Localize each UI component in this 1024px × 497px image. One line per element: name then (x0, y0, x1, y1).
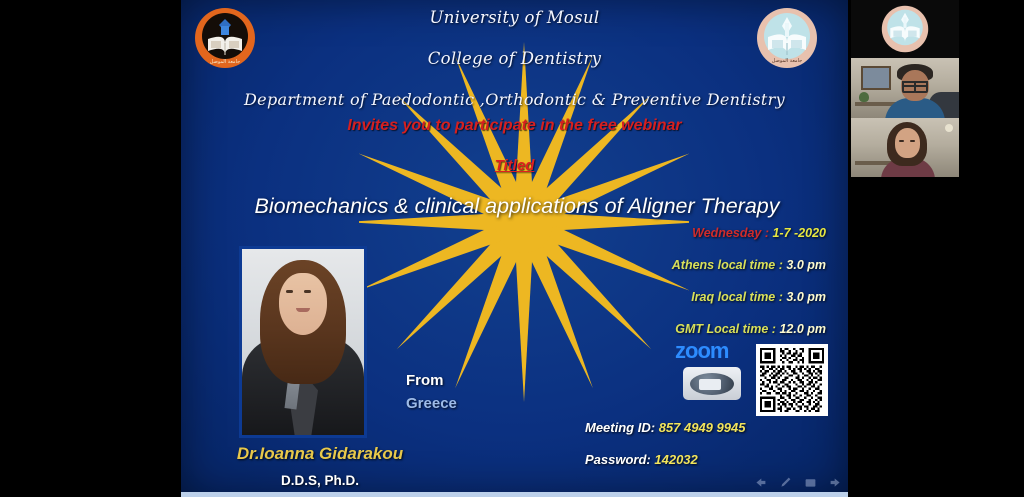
speaker-country: Greece (406, 395, 457, 412)
meeting-id-value: 857 4949 9945 (659, 420, 746, 435)
presentation-toolbar[interactable] (754, 476, 842, 489)
password-row: Password: 142032 (585, 452, 745, 467)
meeting-id-row: Meeting ID: 857 4949 9945 (585, 420, 745, 435)
qr-code-icon (756, 344, 828, 416)
header-invitation-line: Invites you to participate in the free w… (181, 117, 848, 135)
schedule-athens-label: Athens local time : (672, 258, 783, 272)
schedule-iraq-label: Iraq local time : (691, 290, 783, 304)
header-university: University of Mosul (181, 8, 848, 27)
zoom-camera-icon (683, 367, 741, 400)
participant-thumb-logo[interactable] (851, 0, 959, 58)
schedule-row-athens: Athens local time : 3.0 pm (672, 258, 826, 272)
schedule-row-iraq: Iraq local time : 3.0 pm (672, 290, 826, 304)
participant-thumb-woman[interactable] (851, 118, 959, 177)
glasses-icon (902, 81, 928, 87)
woman-eye-left (899, 140, 904, 142)
zoom-wordmark: zoom (675, 340, 741, 362)
schedule-iraq-value: 3.0 pm (786, 290, 826, 304)
schedule-row-date: Wednesday : 1-7 -2020 (672, 226, 826, 240)
schedule-gmt-label: GMT Local time : (675, 322, 776, 336)
meeting-id-label: Meeting ID: (585, 420, 655, 435)
portrait-mouth (296, 308, 310, 312)
meeting-info-block: Meeting ID: 857 4949 9945 Password: 1420… (585, 420, 745, 484)
wall-picture-frame (861, 66, 891, 90)
pen-icon[interactable] (779, 476, 792, 489)
slide-icon[interactable] (804, 476, 817, 489)
schedule-row-gmt: GMT Local time : 12.0 pm (672, 322, 826, 336)
slide-bottom-edge (181, 492, 848, 497)
schedule-date-label: Wednesday : (692, 226, 769, 240)
header-department: Department of Paedodontic ,Orthodontic &… (181, 90, 848, 109)
participant-thumbnail-strip[interactable] (851, 0, 959, 177)
speaker-portrait (239, 246, 367, 438)
portrait-eye-left (286, 290, 293, 293)
speaker-name: Dr.Ioanna Gidarakou (205, 444, 435, 464)
header-college: College of Dentistry (181, 49, 848, 68)
lamp (945, 124, 953, 132)
schedule-gmt-value: 12.0 pm (779, 322, 826, 336)
schedule-block: Wednesday : 1-7 -2020 Athens local time … (672, 226, 826, 354)
shared-slide: جامعة الموصل جامعة الموصل University of … (181, 0, 848, 497)
header-titled-label: Titled (181, 157, 848, 174)
zoom-logo: zoom (675, 340, 741, 400)
from-label: From (406, 372, 457, 389)
woman-eye-right (910, 140, 915, 142)
portrait-eye-right (304, 290, 311, 293)
webinar-title: Biomechanics & clinical applications of … (237, 190, 797, 223)
schedule-date-value: 1-7 -2020 (772, 226, 826, 240)
password-value: 142032 (654, 452, 697, 467)
arrow-right-icon[interactable] (829, 476, 842, 489)
screen-share-view: جامعة الموصل جامعة الموصل University of … (0, 0, 1024, 497)
woman-face (895, 128, 920, 158)
university-seal-icon (881, 5, 929, 53)
portrait-face (279, 273, 327, 335)
arrow-left-icon[interactable] (754, 476, 767, 489)
speaker-degree: D.D.S, Ph.D. (205, 473, 435, 488)
schedule-athens-value: 3.0 pm (786, 258, 826, 272)
speaker-origin-block: From Greece (406, 372, 457, 412)
password-label: Password: (585, 452, 651, 467)
plant (859, 92, 869, 102)
participant-thumb-man[interactable] (851, 58, 959, 118)
